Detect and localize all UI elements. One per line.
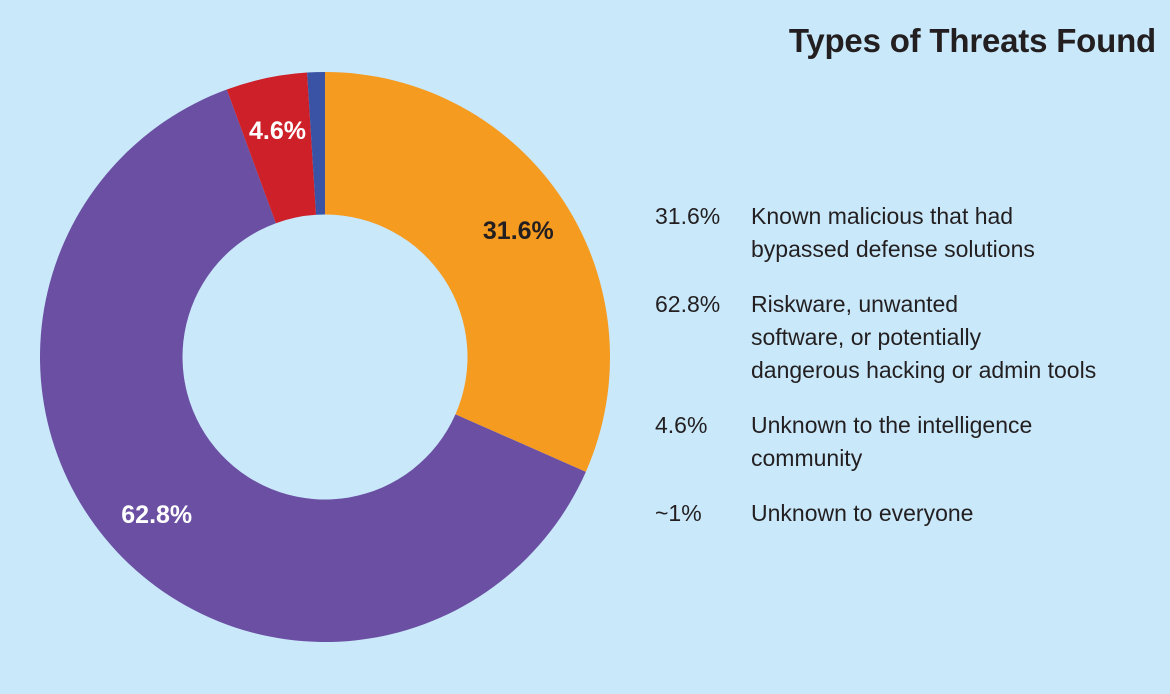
legend-item-description-line: Unknown to everyone — [751, 497, 1160, 530]
legend-item-description: Riskware, unwantedsoftware, or potential… — [751, 288, 1160, 387]
legend-item-percent: 4.6% — [655, 409, 751, 442]
legend-item[interactable]: ~1%Unknown to everyone — [655, 497, 1160, 530]
legend-item-description-line: software, or potentially — [751, 321, 1160, 354]
legend-item-description: Unknown to the intelligencecommunity — [751, 409, 1160, 475]
legend-item-description-line: Riskware, unwanted — [751, 288, 1160, 321]
donut-chart: 31.6%62.8%4.6% — [40, 72, 610, 642]
legend-item-description: Unknown to everyone — [751, 497, 1160, 530]
page-title: Types of Threats Found — [789, 22, 1156, 60]
slice-label-unknown-to-intelligence-community: 4.6% — [249, 117, 306, 145]
legend-item-description-line: Unknown to the intelligence — [751, 409, 1160, 442]
donut-slice-known-malicious[interactable] — [325, 72, 610, 472]
infographic-canvas: Types of Threats Found 31.6%62.8%4.6% 31… — [0, 0, 1170, 694]
legend-item[interactable]: 31.6%Known malicious that hadbypassed de… — [655, 200, 1160, 266]
legend-item[interactable]: 4.6%Unknown to the intelligencecommunity — [655, 409, 1160, 475]
slice-label-known-malicious: 31.6% — [483, 217, 554, 245]
donut-chart-svg: 31.6%62.8%4.6% — [40, 72, 610, 642]
legend-item-description: Known malicious that hadbypassed defense… — [751, 200, 1160, 266]
legend-item-percent: ~1% — [655, 497, 751, 530]
legend-item-description-line: Known malicious that had — [751, 200, 1160, 233]
legend-item-percent: 62.8% — [655, 288, 751, 321]
legend-item-description-line: dangerous hacking or admin tools — [751, 354, 1160, 387]
donut-slices — [40, 72, 610, 642]
slice-label-riskware: 62.8% — [121, 501, 192, 529]
legend-item-description-line: bypassed defense solutions — [751, 233, 1160, 266]
legend-item[interactable]: 62.8%Riskware, unwantedsoftware, or pote… — [655, 288, 1160, 387]
chart-legend: 31.6%Known malicious that hadbypassed de… — [655, 200, 1160, 530]
legend-item-percent: 31.6% — [655, 200, 751, 233]
legend-item-description-line: community — [751, 442, 1160, 475]
